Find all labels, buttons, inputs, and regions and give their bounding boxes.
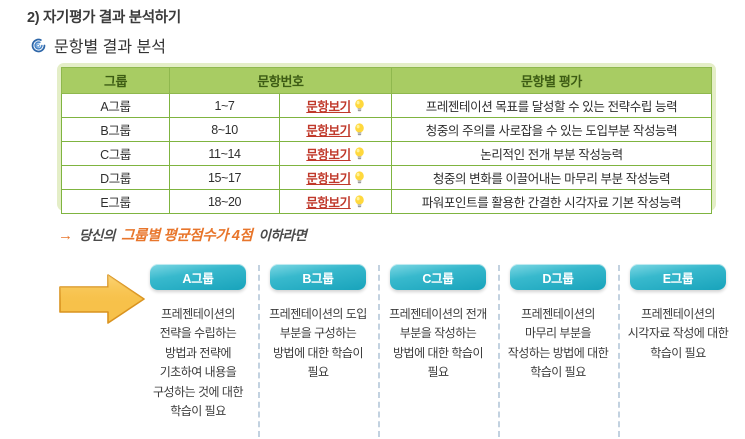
cell-numbers: 8~10 [170,118,280,142]
card-label-c[interactable]: C그룹 [390,264,486,290]
recommendation-cards: A그룹 프레젠테이션의 전략을 수립하는 방법과 전략에 기초하여 내용을 구성… [138,262,738,437]
view-questions-link[interactable]: 문항보기 [306,144,364,163]
subheading-text-before: 당신의 [79,224,115,244]
view-questions-label: 문항보기 [306,192,350,211]
section-heading-label: 문항별 결과 분석 [54,33,166,57]
page-root: 2) 자기평가 결과 분석하기 문항별 결과 분석 그룹 문항번호 문항별 평가 [0,0,745,439]
cell-view-link[interactable]: 문항보기 [280,142,392,166]
card-label-e[interactable]: E그룹 [630,264,726,290]
section-heading: 문항별 결과 분석 [30,33,166,57]
lightbulb-icon [354,123,365,136]
cell-numbers: 18~20 [170,190,280,214]
view-questions-link[interactable]: 문항보기 [306,120,364,139]
card-body-d: 프레젠테이션의 마무리 부분을 작성하는 방법에 대한 학습이 필요 [504,305,612,383]
table-row: D그룹 15~17 문항보기 청중의 변 [62,166,712,190]
view-questions-link[interactable]: 문항보기 [306,168,364,187]
lightbulb-icon [354,195,365,208]
table-row: B그룹 8~10 문항보기 청중의 주의 [62,118,712,142]
table-row: C그룹 11~14 문항보기 논리적인 [62,142,712,166]
cell-group: C그룹 [62,142,170,166]
view-questions-label: 문항보기 [306,168,350,187]
view-questions-link[interactable]: 문항보기 [306,192,364,211]
cell-view-link[interactable]: 문항보기 [280,166,392,190]
lightbulb-icon [354,99,365,112]
recommendation-card-c: C그룹 프레젠테이션의 전개 부분을 작성하는 방법에 대한 학습이 필요 [378,262,498,437]
cell-group: D그룹 [62,166,170,190]
cell-view-link[interactable]: 문항보기 [280,190,392,214]
result-table: 그룹 문항번호 문항별 평가 A그룹 1~7 문항보기 [61,67,712,214]
card-label-b[interactable]: B그룹 [270,264,366,290]
subheading-text-accent: 그룹별 평균점수가 4점 [121,224,252,245]
page-title: 2) 자기평가 결과 분석하기 [27,6,181,27]
subheading-text-after: 이하라면 [258,224,306,244]
spiral-icon [30,37,47,54]
view-questions-label: 문항보기 [306,96,350,115]
recommendation-card-a: A그룹 프레젠테이션의 전략을 수립하는 방법과 전략에 기초하여 내용을 구성… [138,262,258,437]
cell-group: A그룹 [62,94,170,118]
cell-evaluation: 논리적인 전개 부분 작성능력 [392,142,712,166]
cell-view-link[interactable]: 문항보기 [280,94,392,118]
card-label-d[interactable]: D그룹 [510,264,606,290]
cell-group: E그룹 [62,190,170,214]
cell-evaluation: 청중의 변화를 이끌어내는 마무리 부분 작성능력 [392,166,712,190]
view-questions-label: 문항보기 [306,144,350,163]
table-row: A그룹 1~7 문항보기 프레젠테이션 [62,94,712,118]
column-header-evaluation: 문항별 평가 [392,68,712,94]
card-body-b: 프레젠테이션의 도입 부분을 구성하는 방법에 대한 학습이 필요 [264,305,372,383]
card-label-a[interactable]: A그룹 [150,264,246,290]
table-header-row: 그룹 문항번호 문항별 평가 [62,68,712,94]
column-header-numbers: 문항번호 [170,68,392,94]
recommendation-card-b: B그룹 프레젠테이션의 도입 부분을 구성하는 방법에 대한 학습이 필요 [258,262,378,437]
recommendation-subheading: → 당신의 그룹별 평균점수가 4점 이하라면 [58,224,307,245]
cell-evaluation: 청중의 주의를 사로잡을 수 있는 도입부분 작성능력 [392,118,712,142]
view-questions-link[interactable]: 문항보기 [306,96,364,115]
table-body: A그룹 1~7 문항보기 프레젠테이션 [62,94,712,214]
result-table-frame: 그룹 문항번호 문항별 평가 A그룹 1~7 문항보기 [57,63,716,211]
column-header-group: 그룹 [62,68,170,94]
big-right-arrow-icon [56,272,148,328]
card-body-e: 프레젠테이션의 시각자료 작성에 대한 학습이 필요 [624,305,732,363]
lightbulb-icon [354,147,365,160]
cell-evaluation: 파워포인트를 활용한 간결한 시각자료 기본 작성능력 [392,190,712,214]
cell-numbers: 11~14 [170,142,280,166]
view-questions-label: 문항보기 [306,120,350,139]
card-body-c: 프레젠테이션의 전개 부분을 작성하는 방법에 대한 학습이 필요 [384,305,492,383]
arrow-right-icon: → [58,228,73,243]
cell-numbers: 1~7 [170,94,280,118]
lightbulb-icon [354,171,365,184]
cell-evaluation: 프레젠테이션 목표를 달성할 수 있는 전략수립 능력 [392,94,712,118]
cell-numbers: 15~17 [170,166,280,190]
cell-group: B그룹 [62,118,170,142]
card-body-a: 프레젠테이션의 전략을 수립하는 방법과 전략에 기초하여 내용을 구성하는 것… [144,305,252,422]
recommendation-card-e: E그룹 프레젠테이션의 시각자료 작성에 대한 학습이 필요 [618,262,738,437]
cell-view-link[interactable]: 문항보기 [280,118,392,142]
table-row: E그룹 18~20 문항보기 파워포인트 [62,190,712,214]
recommendation-card-d: D그룹 프레젠테이션의 마무리 부분을 작성하는 방법에 대한 학습이 필요 [498,262,618,437]
